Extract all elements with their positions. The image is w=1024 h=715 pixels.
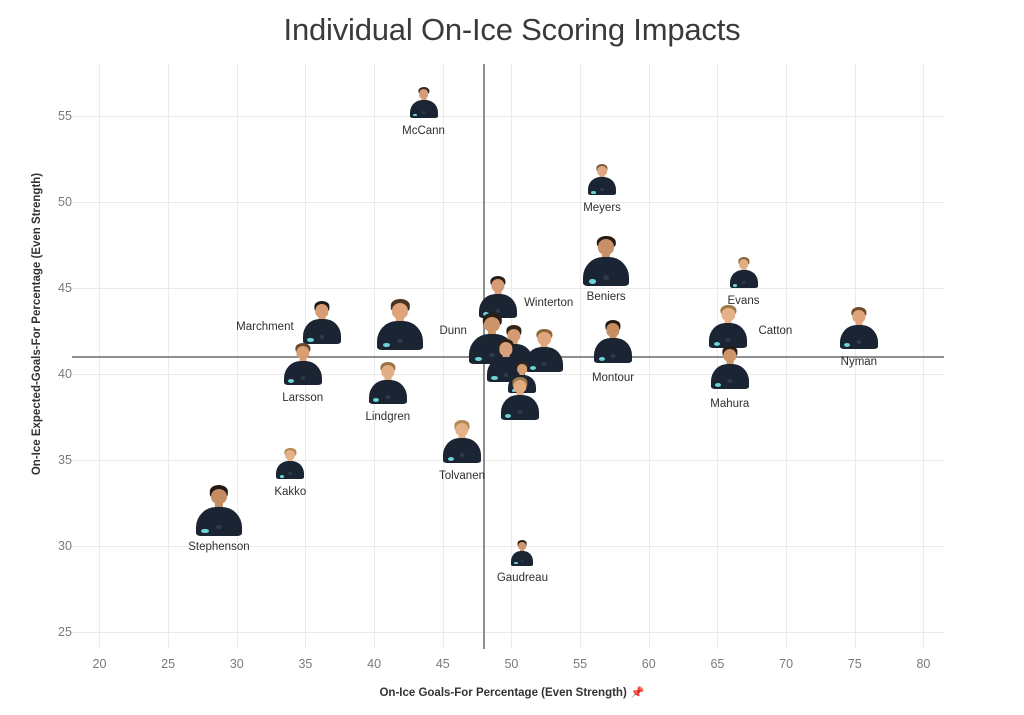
shoulder-patch-icon xyxy=(383,343,390,348)
jersey-crest-icon xyxy=(600,188,604,191)
y-tick-label: 30 xyxy=(58,539,72,553)
player-headshot-icon xyxy=(511,540,533,566)
jersey-crest-icon xyxy=(422,111,426,114)
player-headshot-icon xyxy=(588,163,616,195)
shoulder-patch-icon xyxy=(505,414,511,418)
data-point-marchment[interactable] xyxy=(303,300,341,344)
x-tick-label: 30 xyxy=(230,657,244,671)
player-headshot-icon xyxy=(709,304,747,348)
shoulder-patch-icon xyxy=(715,383,721,387)
y-tick-label: 50 xyxy=(58,195,72,209)
data-point-mahura[interactable] xyxy=(711,345,749,389)
player-headshot-icon xyxy=(284,341,322,385)
shoulder-patch-icon xyxy=(475,357,482,362)
x-tick-label: 75 xyxy=(848,657,862,671)
x-tick-label: 40 xyxy=(367,657,381,671)
jersey-shape xyxy=(410,100,438,118)
jersey-crest-icon xyxy=(216,525,222,530)
data-point-tolvanen[interactable] xyxy=(443,419,481,463)
data-point-larsson[interactable] xyxy=(284,341,322,385)
jersey-shape xyxy=(303,319,341,344)
shoulder-patch-icon xyxy=(599,357,605,361)
point-label: Gaudreau xyxy=(497,573,548,585)
shoulder-patch-icon xyxy=(201,529,208,534)
jersey-crest-icon xyxy=(742,281,746,284)
jersey-shape xyxy=(511,551,533,566)
gridline-horizontal xyxy=(72,460,944,461)
player-headshot-icon xyxy=(196,484,242,536)
x-tick-label: 25 xyxy=(161,657,175,671)
x-tick-label: 65 xyxy=(710,657,724,671)
data-point-gaudreau[interactable] xyxy=(511,540,533,566)
player-headshot-icon xyxy=(840,305,878,349)
jersey-crest-icon xyxy=(727,379,732,383)
jersey-crest-icon xyxy=(289,472,293,475)
jersey-shape xyxy=(377,321,423,350)
jersey-crest-icon xyxy=(397,339,403,344)
jersey-shape xyxy=(730,270,758,288)
jersey-shape xyxy=(501,395,539,420)
point-label: Larsson xyxy=(282,393,323,405)
gridline-horizontal xyxy=(72,632,944,633)
point-label: Stephenson xyxy=(188,542,249,554)
jersey-shape xyxy=(284,361,322,386)
y-tick-label: 40 xyxy=(58,367,72,381)
scatter-chart: Individual On-Ice Scoring Impacts McCann… xyxy=(0,0,1024,715)
y-tick-label: 45 xyxy=(58,281,72,295)
shoulder-patch-icon xyxy=(591,191,595,194)
x-tick-label: 70 xyxy=(779,657,793,671)
y-tick-label: 25 xyxy=(58,625,72,639)
shoulder-patch-icon xyxy=(448,457,454,461)
point-label: Mahura xyxy=(710,399,749,411)
jersey-crest-icon xyxy=(856,340,861,344)
jersey-shape xyxy=(369,380,407,405)
jersey-crest-icon xyxy=(300,376,305,380)
gridline-horizontal xyxy=(72,202,944,203)
point-label: Kakko xyxy=(274,487,306,499)
jersey-crest-icon xyxy=(603,275,609,280)
x-tick-label: 50 xyxy=(504,657,518,671)
plot-area: McCannMeyersBeniersEvansWintertonMarchme… xyxy=(72,64,944,649)
point-label: Lindgren xyxy=(365,412,410,424)
point-label: Winterton xyxy=(524,298,573,310)
point-label: Meyers xyxy=(583,203,621,215)
x-tick-label: 80 xyxy=(916,657,930,671)
data-point-mccann[interactable] xyxy=(410,86,438,118)
data-point-stephenson[interactable] xyxy=(196,484,242,536)
data-point-catton[interactable] xyxy=(709,304,747,348)
jersey-shape xyxy=(840,325,878,350)
data-point-beniers[interactable] xyxy=(583,234,629,286)
x-tick-label: 45 xyxy=(436,657,450,671)
jersey-crest-icon xyxy=(385,395,390,399)
jersey-shape xyxy=(588,177,616,195)
data-point-evans[interactable] xyxy=(730,256,758,288)
x-axis-title-label: On-Ice Goals-For Percentage (Even Streng… xyxy=(379,687,626,699)
x-tick-label: 60 xyxy=(642,657,656,671)
shoulder-patch-icon xyxy=(491,376,497,380)
page-title: Individual On-Ice Scoring Impacts xyxy=(0,12,1024,48)
jersey-shape xyxy=(709,323,747,348)
x-tick-label: 55 xyxy=(573,657,587,671)
y-tick-label: 55 xyxy=(58,109,72,123)
x-tick-label: 35 xyxy=(298,657,312,671)
x-axis-title: On-Ice Goals-For Percentage (Even Streng… xyxy=(0,686,1024,699)
data-point-kakko[interactable] xyxy=(276,447,304,479)
jersey-shape xyxy=(711,364,749,389)
player-headshot-icon xyxy=(583,234,629,286)
player-headshot-icon xyxy=(711,345,749,389)
data-point-dunn[interactable] xyxy=(377,298,423,350)
data-point-montour[interactable] xyxy=(594,319,632,363)
shoulder-patch-icon xyxy=(589,279,596,284)
data-point-nyman[interactable] xyxy=(840,305,878,349)
data-point[interactable] xyxy=(501,376,539,420)
jersey-crest-icon xyxy=(542,362,547,366)
jersey-crest-icon xyxy=(319,335,324,339)
shoulder-patch-icon xyxy=(413,114,417,117)
shoulder-patch-icon xyxy=(280,475,284,478)
point-label: Tolvanen xyxy=(439,471,485,483)
point-label: Nyman xyxy=(841,357,877,369)
shoulder-patch-icon xyxy=(733,284,737,287)
point-label: Dunn xyxy=(439,326,467,338)
point-label: Marchment xyxy=(236,322,294,334)
player-headshot-icon xyxy=(276,447,304,479)
jersey-crest-icon xyxy=(521,560,524,562)
point-label: Catton xyxy=(758,326,792,338)
point-label: Beniers xyxy=(587,292,626,304)
shoulder-patch-icon xyxy=(514,562,518,564)
player-headshot-icon xyxy=(594,319,632,363)
player-headshot-icon xyxy=(410,86,438,118)
jersey-crest-icon xyxy=(460,453,465,457)
player-headshot-icon xyxy=(377,298,423,350)
pushpin-icon: 📌 xyxy=(631,687,645,699)
data-point-lindgren[interactable] xyxy=(369,360,407,404)
player-headshot-icon xyxy=(443,419,481,463)
point-label: McCann xyxy=(402,126,445,138)
shoulder-patch-icon xyxy=(844,343,850,347)
player-headshot-icon xyxy=(730,256,758,288)
y-axis-title: On-Ice Expected-Goals-For Percentage (Ev… xyxy=(31,44,43,604)
player-headshot-icon xyxy=(501,376,539,420)
jersey-crest-icon xyxy=(726,338,731,342)
data-point-meyers[interactable] xyxy=(588,163,616,195)
jersey-shape xyxy=(276,461,304,479)
jersey-shape xyxy=(196,507,242,536)
jersey-shape xyxy=(443,438,481,463)
gridline-horizontal xyxy=(72,116,944,117)
jersey-crest-icon xyxy=(611,354,616,358)
jersey-crest-icon xyxy=(517,410,522,414)
shoulder-patch-icon xyxy=(288,379,294,383)
player-headshot-icon xyxy=(303,300,341,344)
shoulder-patch-icon xyxy=(373,398,379,402)
point-label: Evans xyxy=(728,296,760,308)
player-headshot-icon xyxy=(369,360,407,404)
point-label: Montour xyxy=(592,373,634,385)
y-tick-label: 35 xyxy=(58,453,72,467)
jersey-shape xyxy=(594,338,632,363)
jersey-shape xyxy=(583,257,629,286)
x-tick-label: 20 xyxy=(93,657,107,671)
